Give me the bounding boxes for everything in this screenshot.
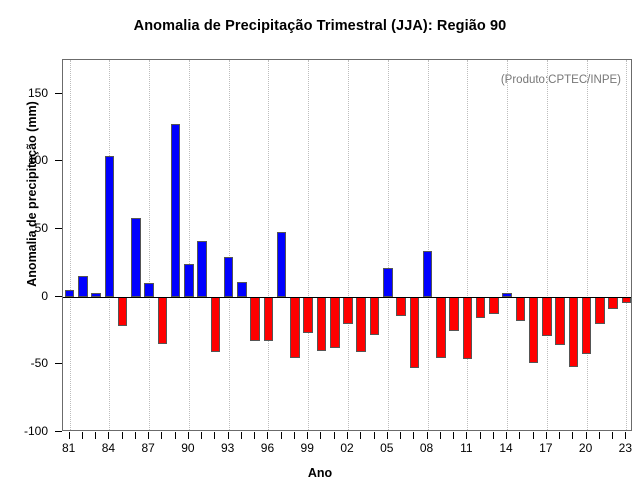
bar-2021 bbox=[595, 297, 605, 324]
x-tick-mark bbox=[294, 432, 295, 439]
bar-1988 bbox=[158, 297, 168, 344]
x-tick-mark bbox=[307, 432, 308, 439]
x-tick-mark bbox=[612, 432, 613, 439]
source-annotation: (Produto:CPTEC/INPE) bbox=[501, 74, 621, 86]
x-tick-mark bbox=[387, 432, 388, 439]
gridline-vertical bbox=[507, 60, 508, 430]
bar-2002 bbox=[343, 297, 353, 324]
bar-2003 bbox=[356, 297, 366, 352]
gridline-vertical bbox=[229, 60, 230, 430]
x-tick-label: 11 bbox=[460, 441, 472, 455]
bar-2022 bbox=[608, 297, 618, 309]
bar-1985 bbox=[118, 297, 128, 327]
bar-2009 bbox=[436, 297, 446, 358]
x-tick-label: 02 bbox=[340, 441, 353, 455]
gridline-vertical bbox=[547, 60, 548, 430]
y-tick-mark bbox=[55, 363, 62, 364]
bar-1982 bbox=[78, 276, 88, 296]
x-tick-mark bbox=[453, 432, 454, 439]
chart-page: Anomalia de Precipitação Trimestral (JJA… bbox=[0, 0, 640, 500]
x-tick-mark bbox=[122, 432, 123, 439]
bar-1989 bbox=[171, 124, 181, 297]
x-tick-mark bbox=[572, 432, 573, 439]
bar-1986 bbox=[131, 218, 141, 296]
bar-2008 bbox=[423, 251, 433, 297]
x-tick-label: 81 bbox=[62, 441, 75, 455]
x-tick-mark bbox=[374, 432, 375, 439]
x-tick-mark bbox=[586, 432, 587, 439]
y-tick-label: -100 bbox=[24, 424, 48, 438]
y-tick-label: 0 bbox=[41, 289, 48, 303]
x-tick-mark bbox=[175, 432, 176, 439]
x-tick-mark bbox=[599, 432, 600, 439]
x-tick-mark bbox=[267, 432, 268, 439]
x-tick-mark bbox=[466, 432, 467, 439]
x-tick-mark bbox=[506, 432, 507, 439]
x-tick-label: 84 bbox=[102, 441, 115, 455]
gridline-vertical bbox=[308, 60, 309, 430]
y-tick-mark bbox=[55, 93, 62, 94]
bar-1992 bbox=[211, 297, 221, 352]
bar-2006 bbox=[396, 297, 406, 316]
bar-2000 bbox=[317, 297, 327, 351]
x-tick-mark bbox=[135, 432, 136, 439]
x-axis-title: Ano bbox=[0, 466, 640, 480]
bar-1981 bbox=[65, 290, 75, 297]
gridline-vertical bbox=[467, 60, 468, 430]
bar-2015 bbox=[516, 297, 526, 321]
x-tick-mark bbox=[334, 432, 335, 439]
bar-2018 bbox=[555, 297, 565, 346]
y-tick-mark bbox=[55, 160, 62, 161]
x-tick-mark bbox=[320, 432, 321, 439]
x-tick-mark bbox=[254, 432, 255, 439]
gridline-vertical bbox=[348, 60, 349, 430]
bar-2023 bbox=[622, 297, 631, 304]
x-tick-label: 23 bbox=[619, 441, 632, 455]
plot-inner bbox=[63, 60, 631, 430]
bar-2001 bbox=[330, 297, 340, 348]
x-tick-mark bbox=[427, 432, 428, 439]
x-tick-mark bbox=[519, 432, 520, 439]
x-tick-label: 99 bbox=[301, 441, 314, 455]
bar-2020 bbox=[582, 297, 592, 354]
x-tick-mark bbox=[440, 432, 441, 439]
x-tick-label: 08 bbox=[420, 441, 433, 455]
x-tick-mark bbox=[69, 432, 70, 439]
bar-1999 bbox=[303, 297, 313, 334]
x-tick-label: 93 bbox=[221, 441, 234, 455]
gridline-vertical bbox=[268, 60, 269, 430]
x-tick-label: 14 bbox=[499, 441, 512, 455]
x-tick-mark bbox=[241, 432, 242, 439]
x-tick-mark bbox=[360, 432, 361, 439]
plot-area: (Produto:CPTEC/INPE) bbox=[62, 59, 632, 431]
bar-1995 bbox=[250, 297, 260, 342]
x-tick-mark bbox=[161, 432, 162, 439]
y-tick-mark bbox=[55, 296, 62, 297]
y-tick-mark bbox=[55, 228, 62, 229]
bar-2005 bbox=[383, 268, 393, 296]
x-tick-mark bbox=[625, 432, 626, 439]
zero-baseline bbox=[63, 297, 631, 298]
x-tick-mark bbox=[281, 432, 282, 439]
x-tick-mark bbox=[228, 432, 229, 439]
x-tick-mark bbox=[493, 432, 494, 439]
bar-1997 bbox=[277, 232, 287, 297]
gridline-vertical bbox=[587, 60, 588, 430]
bar-2010 bbox=[449, 297, 459, 331]
x-tick-label: 17 bbox=[539, 441, 552, 455]
x-tick-mark bbox=[559, 432, 560, 439]
bar-2019 bbox=[569, 297, 579, 367]
y-tick-label: -50 bbox=[31, 356, 48, 370]
gridline-vertical bbox=[70, 60, 71, 430]
bar-1987 bbox=[144, 283, 154, 297]
x-tick-mark bbox=[214, 432, 215, 439]
x-tick-mark bbox=[347, 432, 348, 439]
x-tick-label: 90 bbox=[181, 441, 194, 455]
x-tick-mark bbox=[108, 432, 109, 439]
bar-2016 bbox=[529, 297, 539, 363]
x-tick-mark bbox=[95, 432, 96, 439]
bar-2007 bbox=[410, 297, 420, 369]
x-tick-mark bbox=[413, 432, 414, 439]
x-tick-mark bbox=[188, 432, 189, 439]
x-tick-label: 96 bbox=[261, 441, 274, 455]
x-tick-mark bbox=[480, 432, 481, 439]
y-tick-mark bbox=[55, 431, 62, 432]
bar-1990 bbox=[184, 264, 194, 296]
x-tick-mark bbox=[400, 432, 401, 439]
x-tick-mark bbox=[201, 432, 202, 439]
x-tick-label: 87 bbox=[141, 441, 154, 455]
bar-1993 bbox=[224, 257, 234, 296]
bar-2011 bbox=[463, 297, 473, 359]
bar-1994 bbox=[237, 282, 247, 297]
bar-2017 bbox=[542, 297, 552, 336]
bar-1991 bbox=[197, 241, 207, 296]
x-tick-mark bbox=[533, 432, 534, 439]
gridline-vertical bbox=[626, 60, 627, 430]
bar-2013 bbox=[489, 297, 499, 315]
gridline-vertical bbox=[189, 60, 190, 430]
x-tick-mark bbox=[148, 432, 149, 439]
bar-1984 bbox=[105, 156, 115, 297]
gridline-vertical bbox=[149, 60, 150, 430]
x-tick-label: 05 bbox=[380, 441, 393, 455]
x-tick-mark bbox=[546, 432, 547, 439]
bar-2004 bbox=[370, 297, 380, 335]
bar-2012 bbox=[476, 297, 486, 319]
y-axis-title: Anomalia de precipitação (mm) bbox=[25, 54, 39, 334]
page-title: Anomalia de Precipitação Trimestral (JJA… bbox=[0, 18, 640, 34]
bar-1998 bbox=[290, 297, 300, 358]
gridline-vertical bbox=[388, 60, 389, 430]
bar-1996 bbox=[264, 297, 274, 342]
x-tick-mark bbox=[82, 432, 83, 439]
gridline-vertical bbox=[428, 60, 429, 430]
x-tick-label: 20 bbox=[579, 441, 592, 455]
